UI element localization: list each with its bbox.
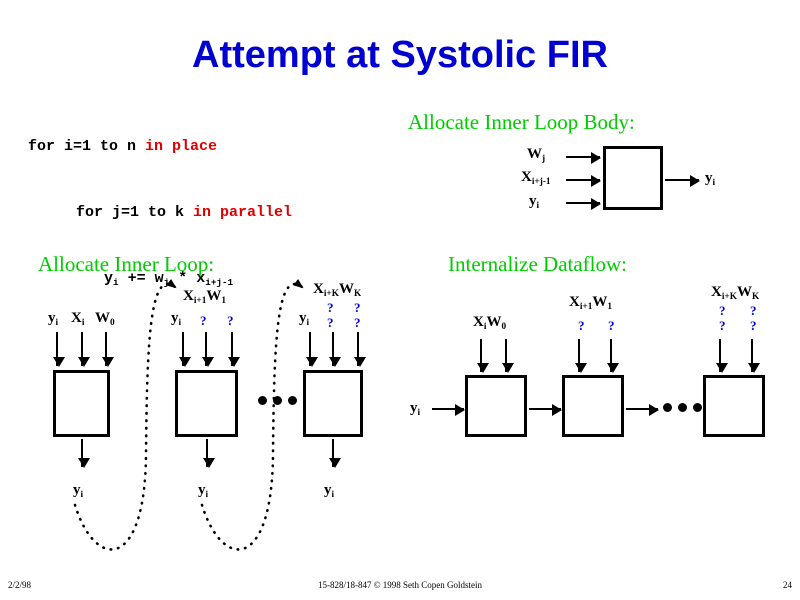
slide-canvas: Attempt at Systolic FIR for i=1 to n in … xyxy=(0,0,800,600)
inner-loop-stage-3-top-label: Xi+KWK xyxy=(313,281,361,298)
footer-citation: 15-828/18-847 © 1998 Seth Copen Goldstei… xyxy=(0,580,800,590)
inner-loop-stage-1-output-arrow xyxy=(81,439,83,467)
internalize-stage-2-top-label: Xi+1W1 xyxy=(569,294,612,311)
loop-body-input-y-label: yi xyxy=(529,193,539,210)
inner-loop-stage-1-input-W-label: W0 xyxy=(95,310,115,327)
inner-loop-stage-3-output-arrow xyxy=(332,439,334,467)
inner-loop-stage-2-arrow-1 xyxy=(182,332,184,366)
inner-loop-stage-1-input-y-label: yi xyxy=(48,310,58,327)
code-line-3-w-sub: j xyxy=(164,277,170,288)
inner-loop-stage-3-output-label: yi xyxy=(324,482,334,499)
internalize-stage-3-unknown-1a: ? xyxy=(719,303,726,319)
loop-body-input-X-label: Xi+j-1 xyxy=(521,169,551,186)
inner-loop-stage-2-box xyxy=(175,370,238,437)
internalize-stage-2-box xyxy=(562,375,624,437)
code-line-3-x-sub: i+j-1 xyxy=(205,277,233,288)
inner-loop-stage-3-arrow-2 xyxy=(332,332,334,366)
inner-loop-stage-2-arrow-3 xyxy=(231,332,233,366)
inner-loop-stage-3-unknown-1a: ? xyxy=(327,300,334,316)
inner-loop-stage-1-input-X-label: Xi xyxy=(71,310,84,327)
inner-loop-stage-2-output-arrow xyxy=(206,439,208,467)
inner-loop-stage-2-input-y-label: yi xyxy=(171,310,181,327)
code-line-2-keyword: in parallel xyxy=(193,204,292,221)
code-line-2: for j=1 to k in parallel xyxy=(28,202,292,224)
inner-loop-stage-1-output-label: yi xyxy=(73,482,83,499)
internalize-input-label: yi xyxy=(410,400,420,417)
internalize-stage-1-top-label: XiW0 xyxy=(473,314,506,331)
loop-body-input-W-arrow xyxy=(566,156,600,158)
internalize-stage-3-unknown-2b: ? xyxy=(750,318,757,334)
internalize-stage-1-box xyxy=(465,375,527,437)
heading-allocate-inner-loop-body: Allocate Inner Loop Body: xyxy=(408,110,635,135)
internalize-stage-2-output-arrow xyxy=(626,408,658,410)
inner-loop-stage-3-unknown-2a: ? xyxy=(354,300,361,316)
loop-body-output-label: yi xyxy=(705,170,715,187)
loop-body-output-arrow xyxy=(665,179,699,181)
pseudocode-block: for i=1 to n in place for j=1 to k in pa… xyxy=(28,92,292,335)
internalize-stage-2-unknown-2: ? xyxy=(608,318,615,334)
inner-loop-stage-3-unknown-1b: ? xyxy=(327,315,334,331)
inner-loop-stage-1-box xyxy=(53,370,110,437)
inner-loop-stage-2-top-label: Xi+1W1 xyxy=(183,288,226,305)
loop-body-input-W-label: Wj xyxy=(527,146,545,163)
internalize-stage-3-top-label: Xi+KWK xyxy=(711,284,759,301)
inner-loop-stage-1-arrow-1 xyxy=(56,332,58,366)
internalize-stage-1-arrow-2 xyxy=(505,339,507,372)
code-line-1-text: for i=1 to n xyxy=(28,138,145,155)
internalize-stage-1-output-arrow xyxy=(529,408,561,410)
loop-body-input-y-arrow xyxy=(566,202,600,204)
inner-loop-stage-2-unknown-1: ? xyxy=(200,313,207,329)
inner-loop-stage-3-arrow-1 xyxy=(309,332,311,366)
code-line-1: for i=1 to n in place xyxy=(28,136,292,158)
inner-loop-stage-2-unknown-2: ? xyxy=(227,313,234,329)
inner-loop-stage-3-input-y-label: yi xyxy=(299,310,309,327)
footer-page-number: 24 xyxy=(783,580,792,590)
inner-loop-stage-2-output-label: yi xyxy=(198,482,208,499)
internalize-stage-3-arrow-2 xyxy=(751,339,753,372)
internalize-stage-2-arrow-2 xyxy=(610,339,612,372)
internalize-stage-2-unknown-1: ? xyxy=(578,318,585,334)
internalize-stage-3-arrow-1 xyxy=(719,339,721,372)
inner-loop-ellipsis xyxy=(258,396,297,405)
inner-loop-stage-1-arrow-2 xyxy=(81,332,83,366)
inner-loop-stage-3-arrow-3 xyxy=(357,332,359,366)
loop-body-box xyxy=(603,146,663,210)
inner-loop-stage-2-arrow-2 xyxy=(205,332,207,366)
code-line-3-y-sub: i xyxy=(113,277,119,288)
page-title: Attempt at Systolic FIR xyxy=(0,34,800,77)
internalize-ellipsis xyxy=(663,403,702,412)
internalize-stage-3-unknown-2a: ? xyxy=(750,303,757,319)
internalize-stage-3-box xyxy=(703,375,765,437)
code-line-2-text: for j=1 to k xyxy=(76,204,193,221)
code-line-1-keyword: in place xyxy=(145,138,217,155)
internalize-stage-1-arrow-1 xyxy=(480,339,482,372)
inner-loop-stage-3-box xyxy=(303,370,363,437)
heading-allocate-inner-loop: Allocate Inner Loop: xyxy=(38,252,214,277)
internalize-stage-3-unknown-1b: ? xyxy=(719,318,726,334)
internalize-input-arrow xyxy=(432,408,464,410)
inner-loop-stage-1-arrow-3 xyxy=(105,332,107,366)
internalize-stage-2-arrow-1 xyxy=(578,339,580,372)
loop-body-input-X-arrow xyxy=(566,179,600,181)
heading-internalize-dataflow: Internalize Dataflow: xyxy=(448,252,627,277)
inner-loop-stage-3-unknown-2b: ? xyxy=(354,315,361,331)
